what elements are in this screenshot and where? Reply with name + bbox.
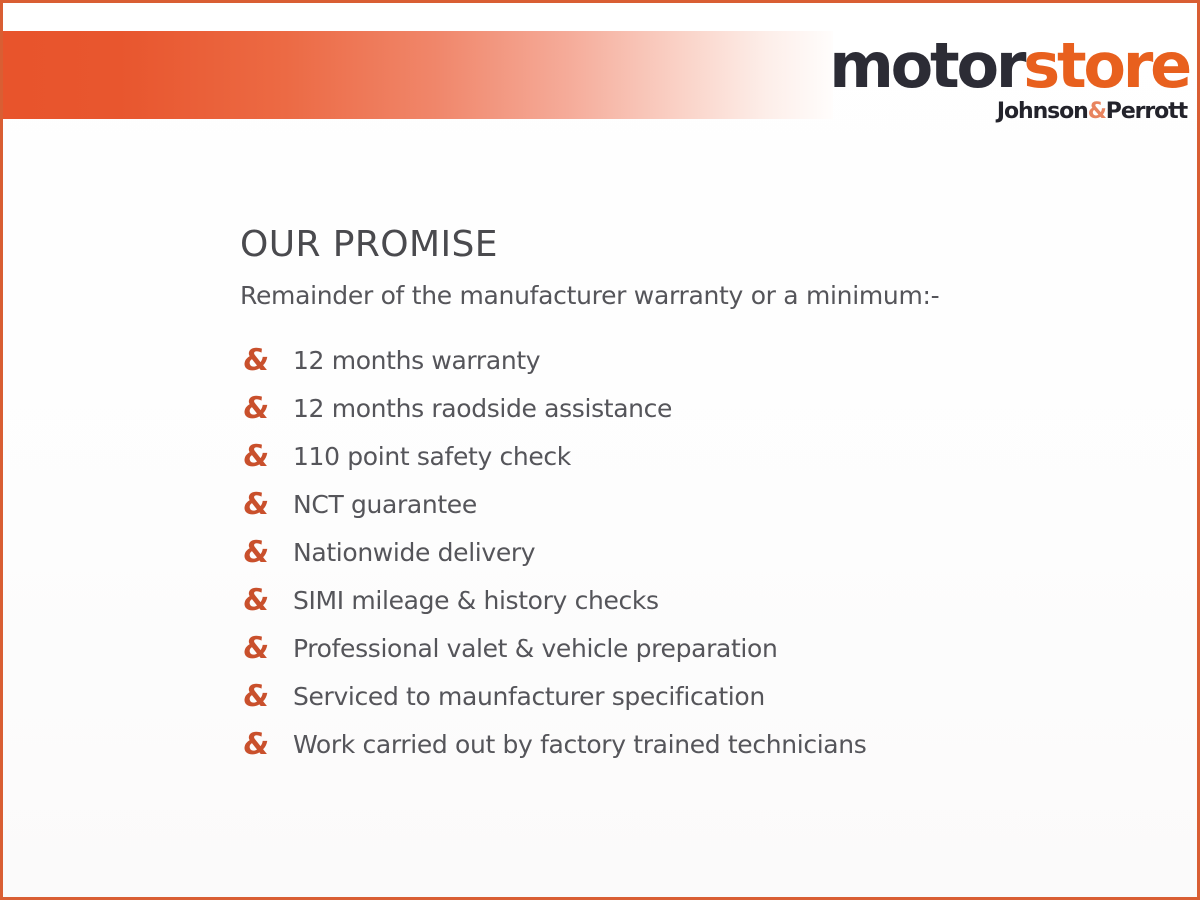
- slide-header: motorstore Johnson&Perrott: [3, 31, 1197, 119]
- logo-word-store: store: [1023, 29, 1189, 102]
- ampersand-bullet-icon: &: [238, 490, 294, 520]
- ampersand-bullet-icon: &: [238, 730, 294, 760]
- ampersand-bullet-icon: &: [238, 394, 294, 424]
- ampersand-bullet-icon: &: [238, 682, 294, 712]
- list-item-label: SIMI mileage & history checks: [293, 586, 659, 616]
- list-item-label: Work carried out by factory trained tech…: [293, 730, 866, 760]
- logo-subtitle: Johnson&Perrott: [819, 101, 1187, 123]
- logo-sub-perrott: Perrott: [1106, 99, 1187, 124]
- ampersand-bullet-icon: &: [238, 634, 294, 664]
- list-item-label: Serviced to maunfacturer specification: [293, 682, 765, 712]
- list-item: & 110 point safety check: [240, 433, 1140, 481]
- list-item: & 12 months warranty: [240, 337, 1140, 385]
- slide-page: motorstore Johnson&Perrott OUR PROMISE R…: [0, 0, 1200, 900]
- list-item-label: 12 months warranty: [293, 346, 540, 376]
- slide-canvas: motorstore Johnson&Perrott OUR PROMISE R…: [3, 3, 1197, 897]
- ampersand-bullet-icon: &: [238, 346, 294, 376]
- list-item: & 12 months raodside assistance: [240, 385, 1140, 433]
- list-item-label: 110 point safety check: [293, 442, 571, 472]
- promise-list: & 12 months warranty & 12 months raodsid…: [240, 337, 1140, 769]
- list-item: & SIMI mileage & history checks: [240, 577, 1140, 625]
- motorstore-logo: motorstore Johnson&Perrott: [819, 31, 1189, 135]
- logo-word-motor: motor: [829, 29, 1023, 102]
- list-item: & Work carried out by factory trained te…: [240, 721, 1140, 769]
- list-item-label: Professional valet & vehicle preparation: [293, 634, 777, 664]
- logo-wordmark: motorstore: [819, 35, 1189, 97]
- list-item: & Nationwide delivery: [240, 529, 1140, 577]
- promise-section: OUR PROMISE Remainder of the manufacture…: [240, 225, 1140, 769]
- list-item-label: NCT guarantee: [293, 490, 477, 520]
- ampersand-bullet-icon: &: [238, 586, 294, 616]
- promise-subtitle: Remainder of the manufacturer warranty o…: [240, 281, 1140, 311]
- logo-sub-johnson: Johnson: [997, 99, 1088, 124]
- page-title: OUR PROMISE: [240, 225, 1140, 265]
- list-item-label: 12 months raodside assistance: [293, 394, 672, 424]
- orange-gradient-band: [3, 31, 833, 119]
- logo-ampersand-icon: &: [1088, 99, 1106, 124]
- list-item: & Professional valet & vehicle preparati…: [240, 625, 1140, 673]
- ampersand-bullet-icon: &: [238, 442, 294, 472]
- list-item-label: Nationwide delivery: [293, 538, 535, 568]
- list-item: & NCT guarantee: [240, 481, 1140, 529]
- list-item: & Serviced to maunfacturer specification: [240, 673, 1140, 721]
- ampersand-bullet-icon: &: [238, 538, 294, 568]
